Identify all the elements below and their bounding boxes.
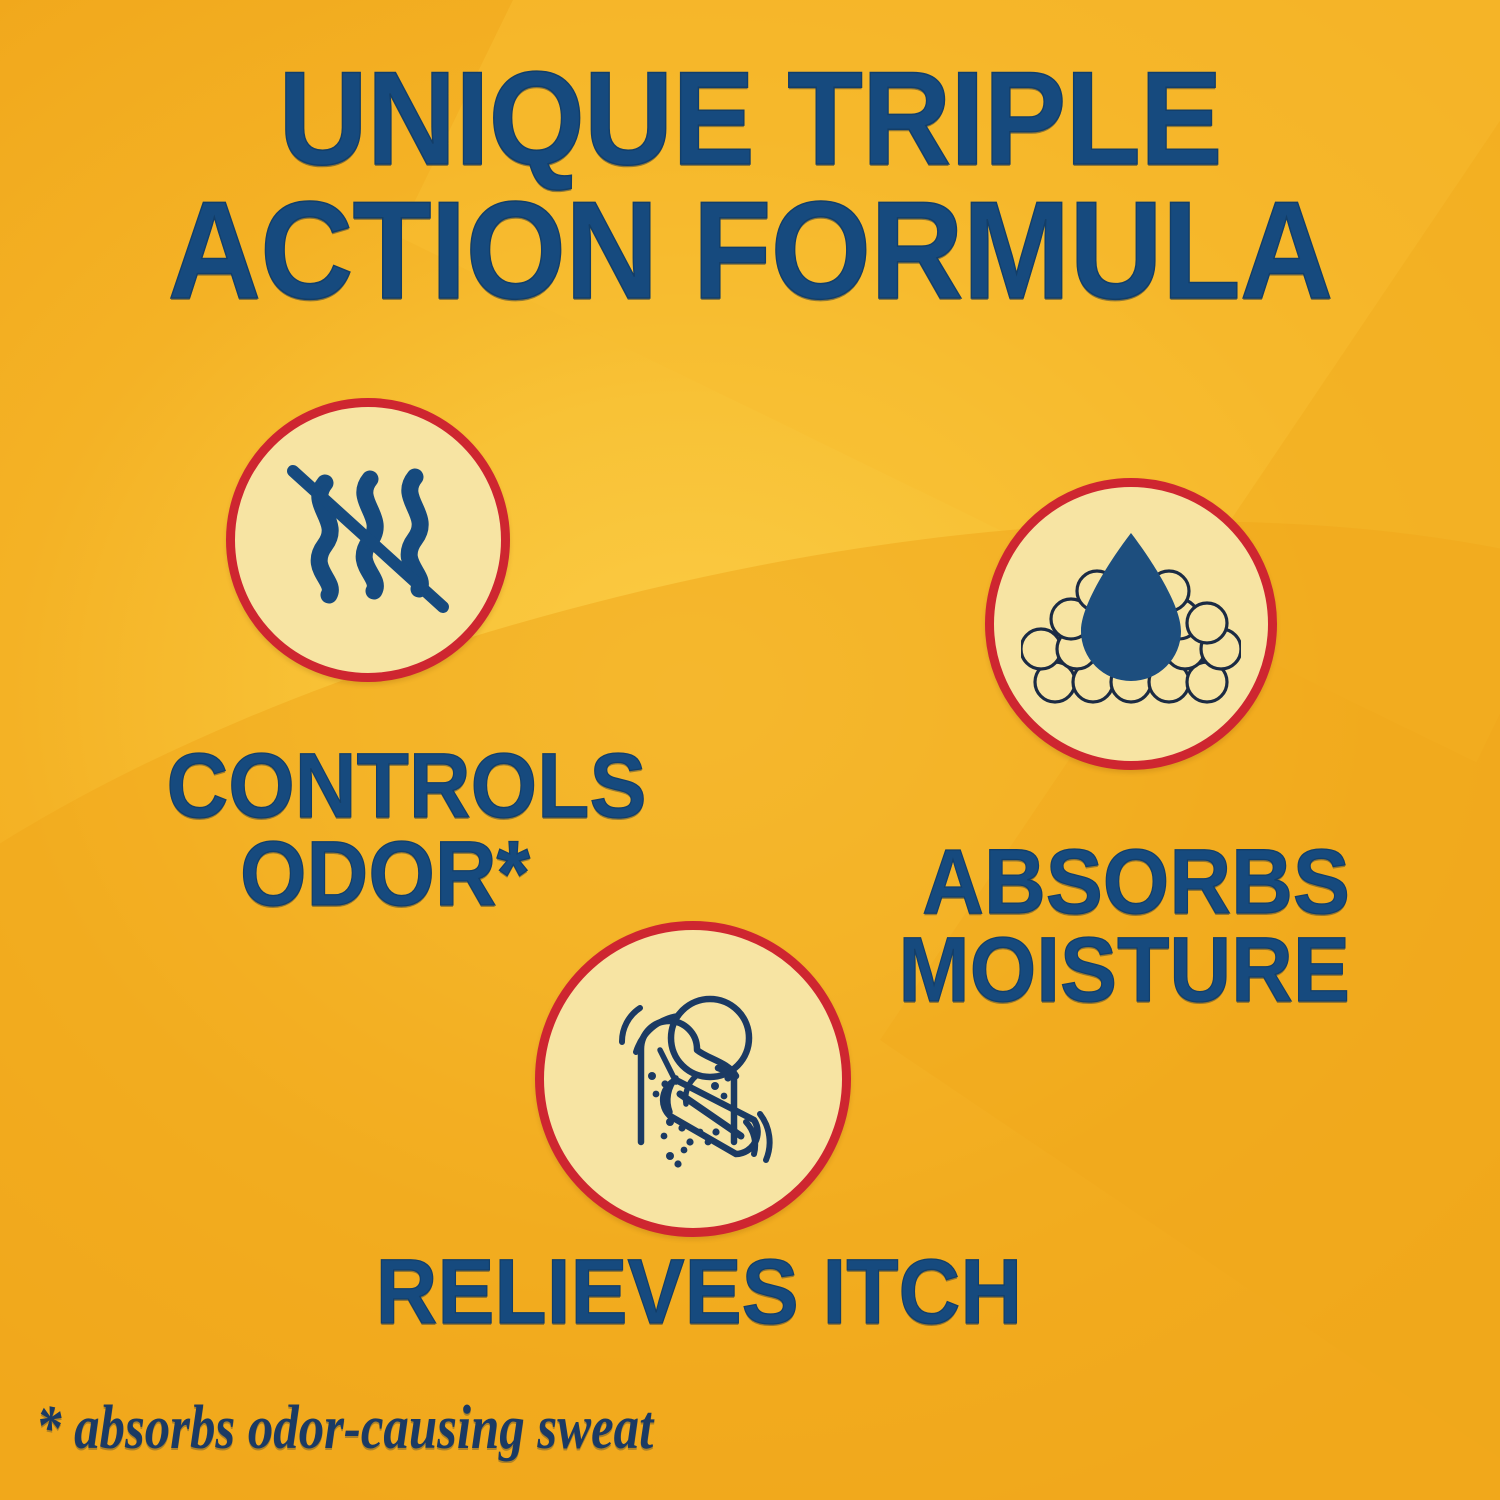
feature-label-controls-odor: CONTROLS ODOR* — [166, 742, 603, 919]
footnote-text: * absorbs odor-causing sweat — [36, 1393, 653, 1464]
headline-line-1: UNIQUE TRIPLE — [278, 45, 1221, 193]
feature-label-line-2: MOISTURE — [829, 926, 1350, 1014]
feature-label-line-2: ODOR* — [166, 830, 603, 918]
no-odor-waves-icon — [263, 435, 473, 645]
infographic-poster: UNIQUE TRIPLE ACTION FORMULA CONTROLS OD… — [0, 0, 1500, 1500]
feature-label-line-1: CONTROLS — [166, 742, 603, 830]
feature-label-absorbs-moisture: ABSORBS MOISTURE — [829, 838, 1350, 1015]
feature-label-line-1: RELIEVES ITCH — [53, 1248, 1346, 1336]
shoulder-line — [697, 1050, 736, 1076]
water-droplet-on-powder-icon — [1021, 519, 1241, 729]
feature-icon-absorbs-moisture — [985, 478, 1277, 770]
feature-icon-relieves-itch — [535, 921, 851, 1237]
headline-line-2: ACTION FORMULA — [53, 184, 1448, 317]
head — [671, 999, 749, 1077]
motion-arc-left-1 — [622, 1008, 640, 1042]
droplet-shape — [1081, 533, 1181, 681]
feature-label-line-1: ABSORBS — [829, 838, 1350, 926]
person-scratching-itch-icon — [578, 964, 808, 1194]
page-title: UNIQUE TRIPLE ACTION FORMULA — [53, 56, 1448, 317]
feature-label-relieves-itch: RELIEVES ITCH — [53, 1248, 1448, 1336]
feature-icon-controls-odor — [226, 398, 510, 682]
motion-arc-right-2 — [760, 1114, 770, 1160]
